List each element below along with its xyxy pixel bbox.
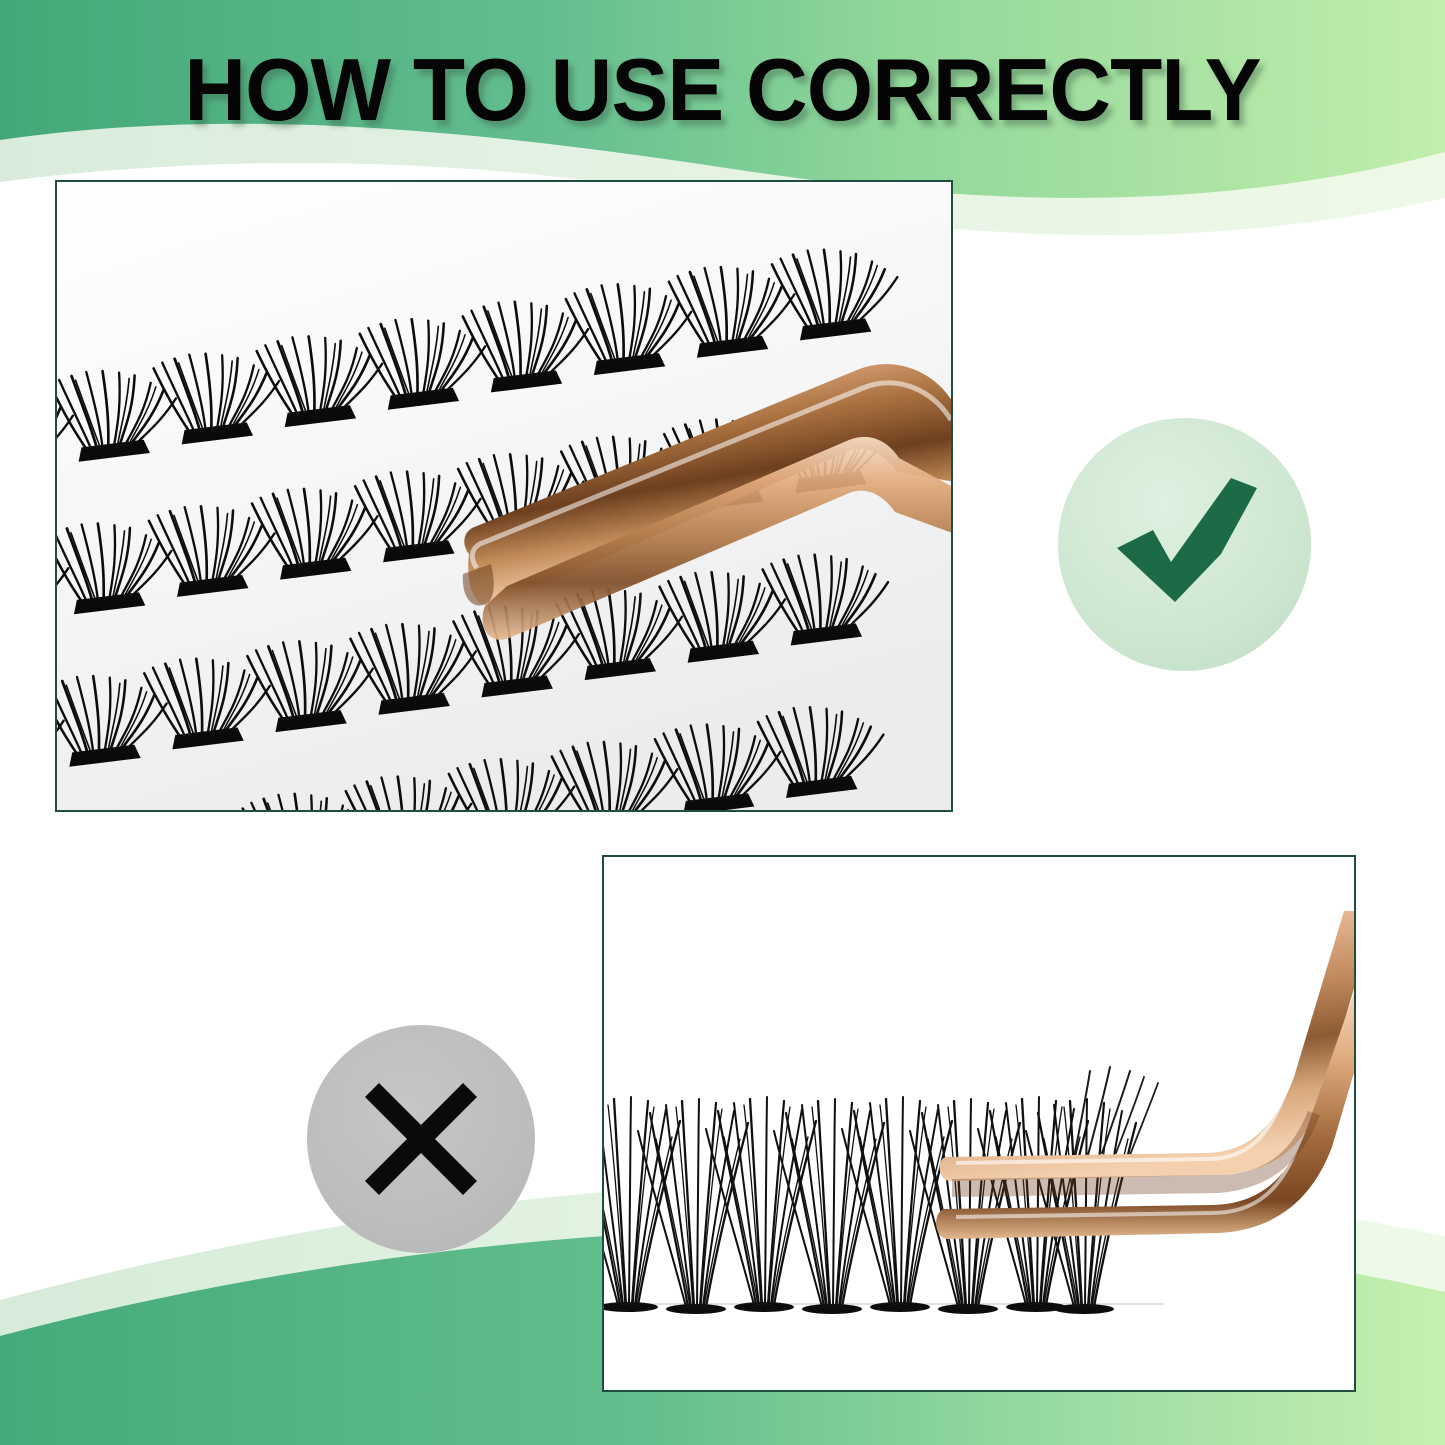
- cross-icon: [357, 1075, 485, 1203]
- photo-incorrect-usage-image: [604, 857, 1354, 1390]
- infographic-canvas: HOW TO USE CORRECTLY: [0, 0, 1445, 1445]
- status-badge-correct: [1058, 418, 1311, 671]
- photo-incorrect-usage: [602, 855, 1356, 1392]
- check-icon: [1105, 470, 1265, 620]
- status-badge-incorrect: [307, 1025, 535, 1253]
- photo-correct-usage: [55, 180, 953, 812]
- photo-correct-usage-image: [57, 182, 951, 810]
- page-title: HOW TO USE CORRECTLY: [22, 46, 1424, 134]
